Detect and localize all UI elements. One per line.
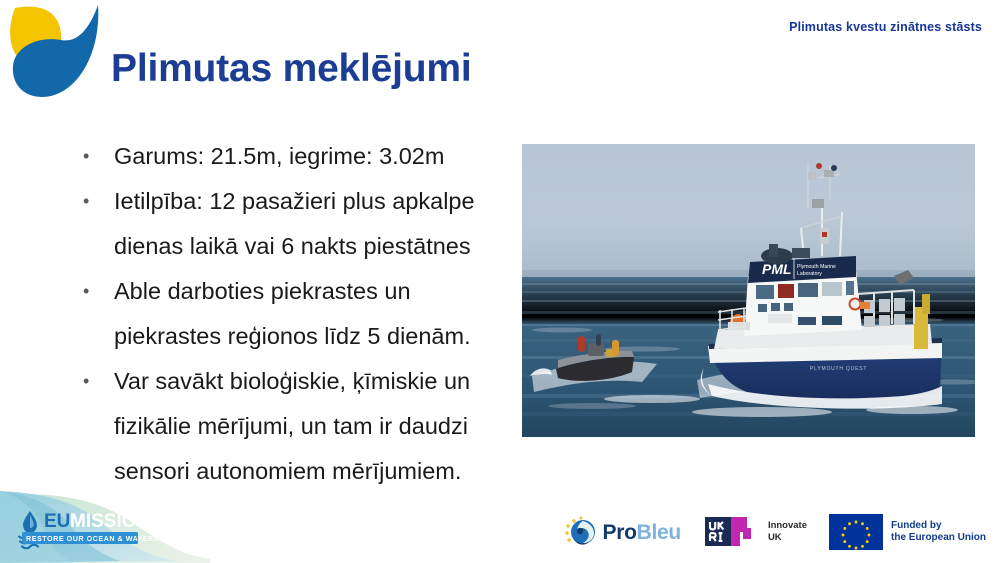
list-item: fizikālie mērījumi, un tam ir daudzi bbox=[78, 404, 508, 449]
bullet-text: Garums: 21.5m, iegrime: 3.02m bbox=[114, 134, 508, 179]
bullet-text: Ietilpība: 12 pasažieri plus apkalpe bbox=[114, 179, 508, 224]
bullet-marker-icon: • bbox=[78, 134, 114, 179]
bullet-text: piekrastes reģionos līdz 5 dienām. bbox=[114, 314, 508, 359]
funded-by-eu-caption: Funded by the European Union bbox=[891, 520, 986, 545]
eu-missions-badge: EU MISSIONS RESTORE OUR OCEAN & WATERS bbox=[0, 491, 210, 563]
list-item: sensori autonomiem mērījumiem. bbox=[78, 449, 508, 494]
probleu-word-pro: Pro bbox=[603, 521, 637, 544]
funded-by-eu-logo: Funded by the European Union bbox=[829, 514, 986, 550]
bullet-list: • Garums: 21.5m, iegrime: 3.02m • Ietilp… bbox=[78, 134, 508, 494]
list-item: • Var savākt bioloģiskie, ķīmiskie un bbox=[78, 359, 508, 404]
eu-flag-icon bbox=[829, 514, 883, 550]
eu-missions-title-missions: MISSIONS bbox=[70, 511, 163, 532]
footer-logo-strip: ProBleu Innovate UK bbox=[564, 509, 986, 555]
bullet-marker-icon: • bbox=[78, 269, 114, 314]
bullet-text: sensori autonomiem mērījumiem. bbox=[114, 449, 508, 494]
eu-missions-tagline: RESTORE OUR OCEAN & WATERS bbox=[26, 534, 159, 543]
probleu-wordmark: ProBleu bbox=[603, 522, 681, 543]
ukri-innovate-uk-logo: Innovate UK bbox=[703, 514, 807, 550]
bullet-text: dienas laikā vai 6 nakts piestātnes bbox=[114, 224, 508, 269]
innovate-uk-line2: UK bbox=[768, 532, 807, 544]
probleu-word-bleu: Bleu bbox=[637, 521, 681, 544]
header-note: Plimutas kvestu zinātnes stāsts bbox=[789, 20, 982, 34]
brand-emblem-icon bbox=[3, 0, 111, 110]
probleu-swirl-icon bbox=[564, 516, 598, 548]
list-item: • Able darboties piekrastes un bbox=[78, 269, 508, 314]
bullet-text: Var savākt bioloģiskie, ķīmiskie un bbox=[114, 359, 508, 404]
bullet-marker-icon: • bbox=[78, 359, 114, 404]
page-title: Plimutas meklējumi bbox=[111, 47, 472, 92]
slide-canvas: Plimutas kvestu zinātnes stāsts Plimutas… bbox=[0, 0, 1000, 563]
funded-by-eu-line1: Funded by bbox=[891, 520, 986, 533]
innovate-uk-caption: Innovate UK bbox=[768, 520, 807, 543]
bullet-text: Able darboties piekrastes un bbox=[114, 269, 508, 314]
eu-missions-title-eu: EU bbox=[44, 511, 70, 532]
vessel-sublabel-line1: Plymouth Marine bbox=[797, 264, 836, 270]
list-item: dienas laikā vai 6 nakts piestātnes bbox=[78, 224, 508, 269]
funded-by-eu-line2: the European Union bbox=[891, 532, 986, 545]
bullet-marker-icon: • bbox=[78, 179, 114, 224]
list-item: • Ietilpība: 12 pasažieri plus apkalpe bbox=[78, 179, 508, 224]
bullet-text: fizikālie mērījumi, un tam ir daudzi bbox=[114, 404, 508, 449]
ukri-mark-icon bbox=[703, 514, 761, 550]
innovate-uk-line1: Innovate bbox=[768, 520, 807, 532]
list-item: • Garums: 21.5m, iegrime: 3.02m bbox=[78, 134, 508, 179]
hull-name-text: PLYMOUTH QUEST bbox=[810, 366, 867, 372]
vessel-photo: PML Plymouth Marine Laboratory bbox=[522, 144, 975, 437]
probleu-logo: ProBleu bbox=[564, 516, 681, 548]
vessel-sublabel-line2: Laboratory bbox=[797, 271, 822, 277]
list-item: piekrastes reģionos līdz 5 dienām. bbox=[78, 314, 508, 359]
